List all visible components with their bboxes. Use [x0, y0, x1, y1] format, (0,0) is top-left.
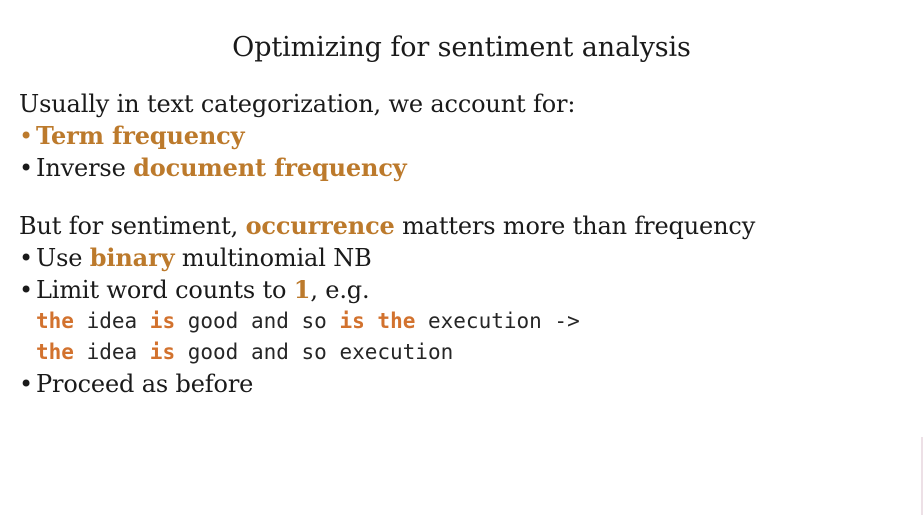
slide-canvas: Optimizing for sentiment analysis Usuall…	[0, 0, 923, 515]
bullet-point-icon: •	[19, 120, 36, 152]
content-block-sentiment: But for sentiment, occurrence matters mo…	[19, 210, 899, 400]
list-item-inverse-document-frequency: • Inverse document frequency	[19, 152, 899, 184]
block2-lead-suffix: matters more than frequency	[395, 212, 755, 240]
block2-lead-text: But for sentiment, occurrence matters mo…	[19, 210, 899, 242]
code-text: execution ->	[415, 309, 579, 333]
content-block-term-frequency: Usually in text categorization, we accou…	[19, 88, 899, 184]
page-title: Optimizing for sentiment analysis	[0, 32, 923, 63]
block-spacer	[19, 184, 899, 210]
list-item-text-suffix: , e.g.	[310, 276, 369, 304]
list-item-text-suffix: multinomial NB	[174, 244, 371, 272]
block2-lead-prefix: But for sentiment,	[19, 212, 246, 240]
list-item-term-frequency: • Term frequency	[19, 120, 899, 152]
list-item-label: Limit word counts to 1, e.g.	[36, 274, 370, 306]
bullet-point-icon: •	[19, 368, 36, 400]
list-item-binary-nb: • Use binary multinomial NB	[19, 242, 899, 274]
code-token-the: the	[36, 309, 74, 333]
code-text: idea	[74, 340, 150, 364]
code-example-line-2: the idea is good and so execution	[19, 337, 899, 368]
bullet-point-icon: •	[19, 242, 36, 274]
list-item-limit-word-counts: • Limit word counts to 1, e.g.	[19, 274, 899, 306]
list-item-text-prefix: Limit word counts to	[36, 276, 294, 304]
list-item-text-prefix: Inverse	[36, 154, 133, 182]
bullet-point-icon: •	[19, 274, 36, 306]
list-item-label: Use binary multinomial NB	[36, 242, 372, 274]
list-item-label: Inverse document frequency	[36, 152, 407, 184]
highlight-count-one: 1	[294, 275, 311, 304]
code-text	[365, 309, 378, 333]
code-token-is: is	[339, 309, 364, 333]
bullet-point-icon: •	[19, 152, 36, 184]
list-item-label: Term frequency	[36, 120, 244, 152]
highlight-term-frequency: Term frequency	[36, 121, 244, 150]
code-token-is: is	[150, 340, 175, 364]
highlight-occurrence: occurrence	[246, 211, 395, 240]
highlight-binary: binary	[90, 243, 175, 272]
block1-lead-text: Usually in text categorization, we accou…	[19, 88, 899, 120]
list-item-text-prefix: Use	[36, 244, 90, 272]
highlight-document-frequency: document frequency	[133, 153, 406, 182]
code-token-the: the	[377, 309, 415, 333]
code-token-the: the	[36, 340, 74, 364]
list-item-label: Proceed as before	[36, 368, 253, 400]
slide-body: Usually in text categorization, we accou…	[19, 88, 899, 400]
code-token-is: is	[150, 309, 175, 333]
list-item-proceed-as-before: • Proceed as before	[19, 368, 899, 400]
code-example-line-1: the idea is good and so is the execution…	[19, 306, 899, 337]
code-text: good and so execution	[175, 340, 453, 364]
code-text: idea	[74, 309, 150, 333]
code-text: good and so	[175, 309, 339, 333]
